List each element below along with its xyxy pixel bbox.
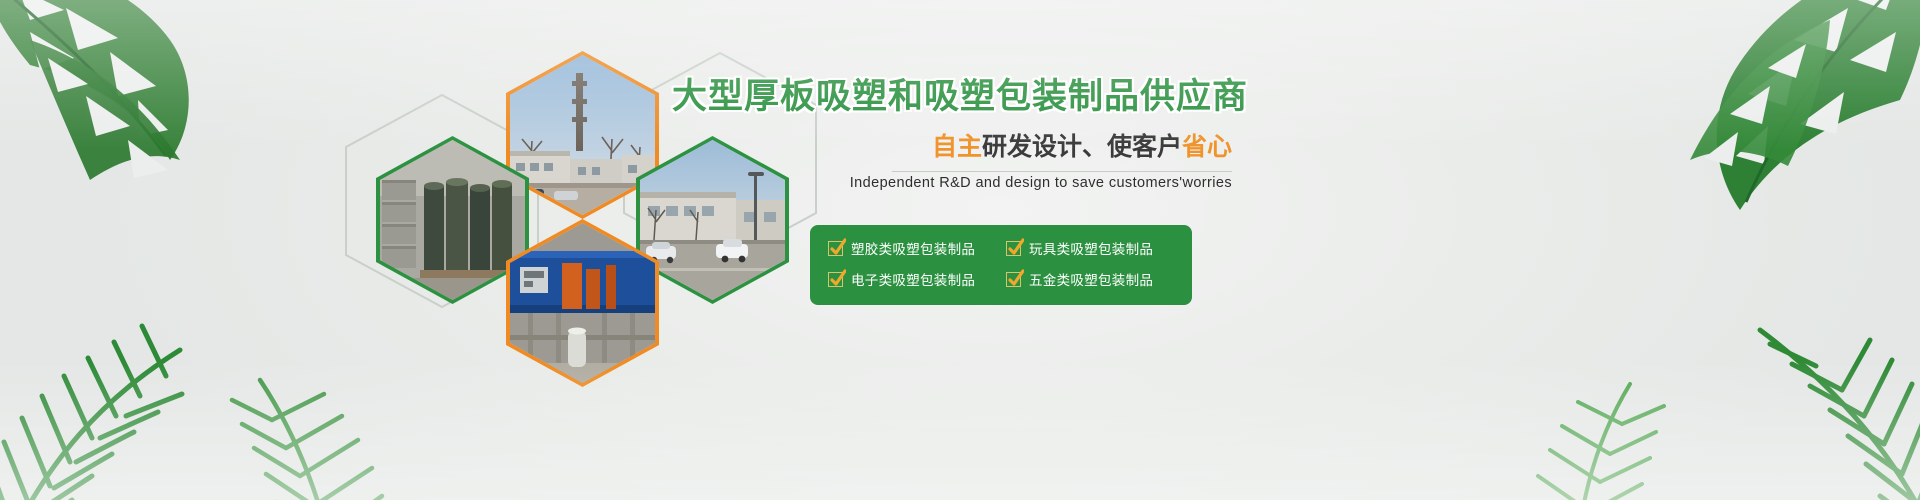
subtitle-english: Independent R&D and design to save custo… (672, 175, 1232, 191)
feature-label: 玩具类吸塑包装制品 (1029, 238, 1153, 258)
feature-label: 电子类吸塑包装制品 (851, 269, 975, 289)
page-title: 大型厚板吸塑和吸塑包装制品供应商 (672, 78, 1232, 117)
check-icon (828, 272, 843, 287)
subtitle-body: 研发设计、使客户 (982, 132, 1182, 161)
headline-block: 大型厚板吸塑和吸塑包装制品供应商 自主研发设计、使客户省心 Independen… (672, 78, 1232, 191)
leaf-icon (1630, 10, 1830, 220)
subtitle-chinese: 自主研发设计、使客户省心 (932, 131, 1232, 162)
palm-frond-icon (1580, 250, 1920, 500)
subtitle-accent-end: 省心 (1182, 132, 1232, 161)
promotional-banner: 大型厚板吸塑和吸塑包装制品供应商 自主研发设计、使客户省心 Independen… (0, 0, 1920, 500)
shrub-icon (560, 360, 980, 500)
monstera-leaf-icon (1600, 0, 1920, 250)
palm-frond-icon (0, 260, 310, 500)
feature-label: 五金类吸塑包装制品 (1029, 269, 1153, 289)
subtitle-accent-start: 自主 (932, 132, 982, 161)
feature-label: 塑胶类吸塑包装制品 (851, 238, 975, 258)
palm-frond-icon (1400, 300, 1740, 500)
divider (892, 171, 1232, 172)
monstera-leaf-icon (0, 0, 270, 220)
check-icon (828, 241, 843, 256)
check-icon (1006, 241, 1021, 256)
product-categories-card: 塑胶类吸塑包装制品 玩具类吸塑包装制品 电子类吸塑包装制品 五金类吸塑包装制品 (810, 225, 1192, 305)
feature-item-hardware[interactable]: 五金类吸塑包装制品 (1006, 269, 1176, 289)
check-icon (1006, 272, 1021, 287)
feature-item-plastic[interactable]: 塑胶类吸塑包装制品 (828, 238, 998, 258)
palm-leaf-icon (30, 40, 270, 270)
subtitle-row: 自主研发设计、使客户省心 (672, 131, 1232, 165)
feature-item-electronics[interactable]: 电子类吸塑包装制品 (828, 269, 998, 289)
feature-item-toys[interactable]: 玩具类吸塑包装制品 (1006, 238, 1176, 258)
